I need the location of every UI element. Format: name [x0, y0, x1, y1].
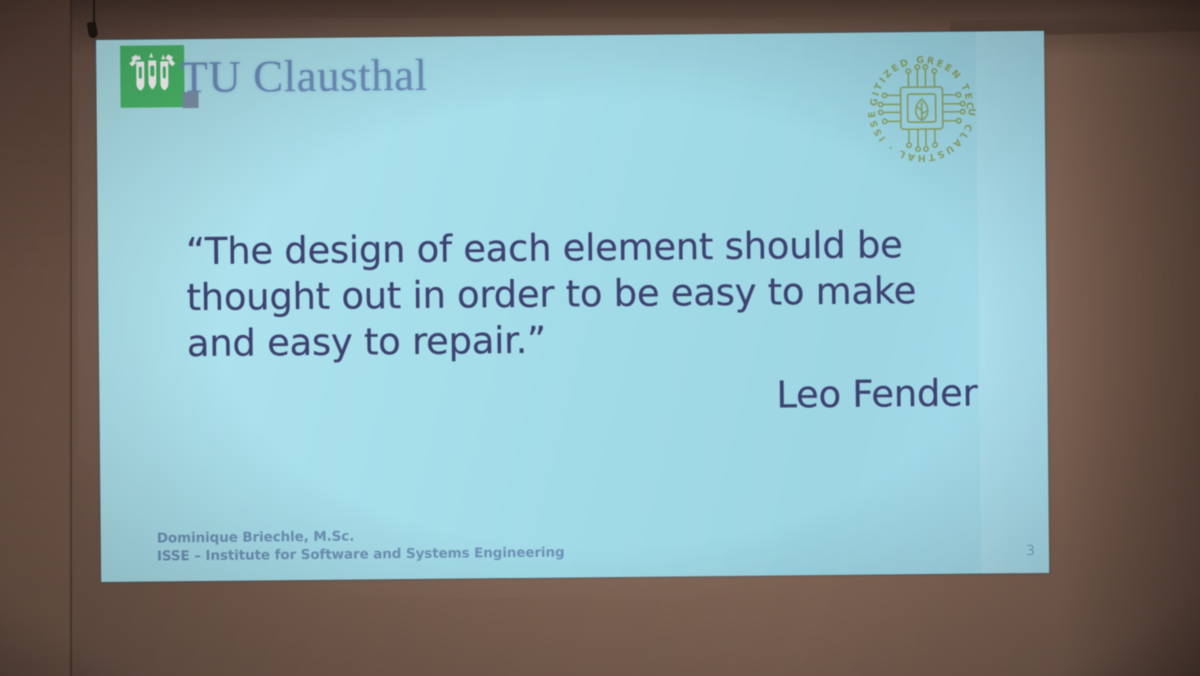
tu-clausthal-logo [120, 45, 185, 108]
slide-frame: TU Clausthal [96, 31, 1049, 582]
footer-institute: ISSE – Institute for Software and System… [157, 544, 565, 566]
slide-page-number: 3 [1026, 543, 1035, 559]
tu-clausthal-crest-icon [127, 51, 177, 95]
page-title: TU Clausthal [180, 53, 428, 100]
wall-corner-seam [70, 0, 72, 676]
slide-footer: Dominique Briechle, M.Sc. ISSE – Institu… [157, 526, 565, 566]
projected-slide-photo: TU Clausthal [0, 0, 1200, 676]
quote-line-2: thought out in order to be easy to make [186, 268, 976, 322]
quote-attribution: Leo Fender [187, 371, 997, 422]
quote-line-3: and easy to repair.” [187, 314, 977, 368]
quote-text: “The design of each element should be th… [186, 222, 977, 368]
wall-left-panel [0, 0, 74, 676]
quote-line-1: “The design of each element should be [186, 222, 976, 276]
slide-surface: TU Clausthal [96, 31, 1049, 582]
digitized-green-tech-badge: DIGITIZED GREEN TECH TU CLAUSTHAL · ISSE [860, 46, 983, 169]
wall-right-shadow [1060, 0, 1200, 676]
